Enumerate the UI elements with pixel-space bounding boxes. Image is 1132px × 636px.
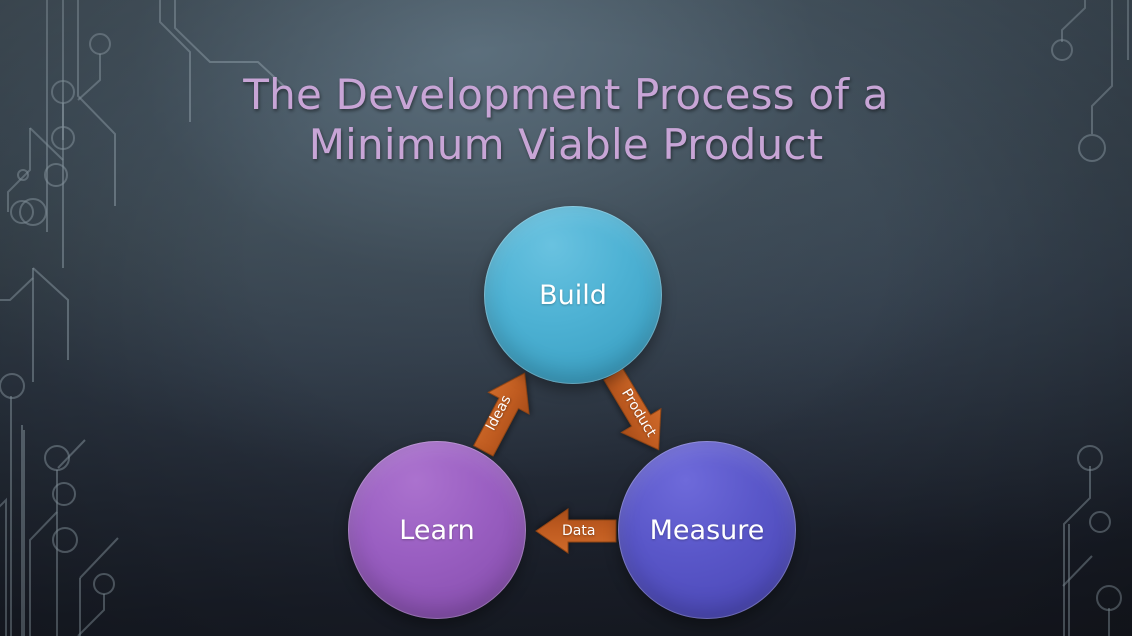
node-build[interactable]: Build [484, 206, 662, 384]
node-build-label: Build [539, 280, 607, 311]
node-measure[interactable]: Measure [618, 441, 796, 619]
node-measure-label: Measure [650, 515, 765, 546]
slide-canvas: The Development Process of a Minimum Via… [0, 0, 1132, 636]
arrow-label-data: Data [562, 523, 595, 539]
node-learn-label: Learn [399, 515, 474, 546]
node-learn[interactable]: Learn [348, 441, 526, 619]
